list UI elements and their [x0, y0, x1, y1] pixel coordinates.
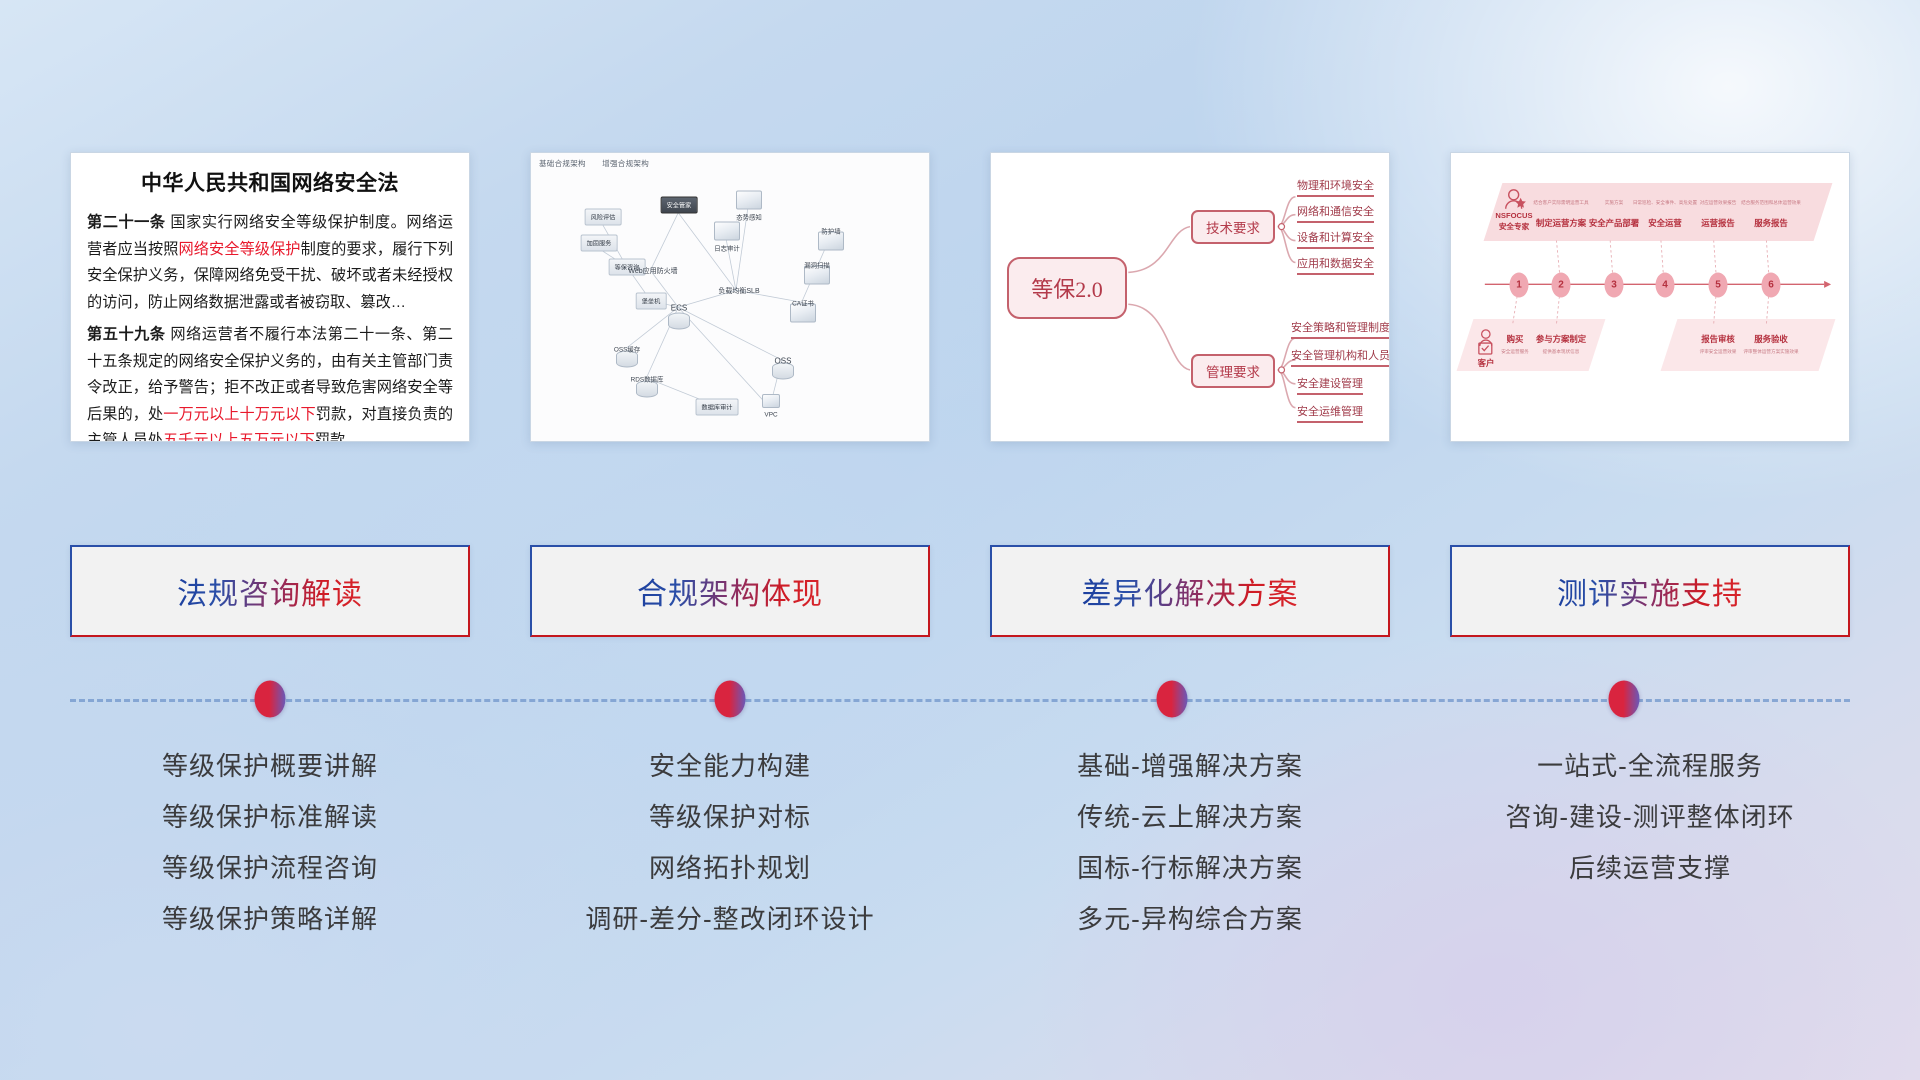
- law-title: 中华人民共和国网络安全法: [71, 167, 469, 197]
- nsfocus-top-sub: 对应运营效果报告: [1700, 200, 1737, 206]
- timeline-dashed-line: [70, 699, 1850, 702]
- arch-cyl-ecs: [668, 313, 690, 330]
- nsfocus-step-number: 3: [1605, 273, 1624, 298]
- law-text-highlight: 一万元以上十万元以下: [163, 406, 316, 423]
- arch-cube-situational-awareness: [736, 191, 762, 210]
- law-text-highlight: 网络安全等级保护: [179, 241, 301, 258]
- preview-cards-row: 中华人民共和国网络安全法 第二十一条 国家实行网络安全等级保护制度。网络运营者应…: [0, 152, 1920, 442]
- mindmap-leaf: 安全管理机构和人员: [1291, 347, 1390, 367]
- nsfocus-bottom-sub: 评审安全运营效果: [1700, 349, 1737, 355]
- detail-list-regulation-consulting: 等级保护概要讲解 等级保护标准解读 等级保护流程咨询 等级保护策略详解: [70, 745, 470, 940]
- nsfocus-bottom-main: 参与方案制定: [1536, 333, 1586, 345]
- nsfocus-top-main: 服务报告: [1754, 217, 1788, 229]
- heading-box-differentiated-solution[interactable]: 差异化解决方案: [990, 545, 1390, 637]
- arch-cube-log-audit: [714, 222, 740, 241]
- card-mindmap[interactable]: 等保2.0 技术要求 物理和环境安全 网络和通信安全 设备和计算安全 应用和数据…: [990, 152, 1390, 442]
- list-item: 多元-异构综合方案: [1077, 898, 1303, 940]
- timeline-dot-4[interactable]: [1609, 681, 1640, 718]
- heading-label: 测评实施支持: [1557, 569, 1743, 613]
- mindmap-root-node: 等保2.0: [1007, 257, 1127, 319]
- arch-node-bastion: 堡垒机: [636, 293, 667, 310]
- nsfocus-bottom-main: 服务验收: [1754, 333, 1788, 345]
- nsfocus-top-sub: 结合服务范围和总体运营效果: [1741, 200, 1801, 206]
- list-item: 等级保护概要讲解: [162, 745, 378, 787]
- detail-list-assessment-support: 一站式-全流程服务 咨询-建设-测评整体闭环 后续运营支撑: [1450, 745, 1850, 940]
- arch-node-waf: Web应用防火墙: [628, 266, 677, 276]
- timeline-dot-3[interactable]: [1157, 681, 1188, 718]
- arch-node-rds: RDS数据库: [631, 375, 664, 384]
- nsfocus-top-sub: 结合客户实际需明运营工具: [1533, 200, 1588, 206]
- nsfocus-top-main: 运营报告: [1701, 217, 1735, 229]
- mindmap-leaf: 安全策略和管理制度: [1291, 319, 1390, 339]
- nsfocus-top-sub: 日常巡检、安全事件、高危处置: [1633, 200, 1697, 206]
- list-item: 等级保护对标: [649, 796, 811, 838]
- nsfocus-bottom-main: 报告审核: [1701, 333, 1735, 345]
- mindmap-leaf: 安全建设管理: [1297, 375, 1363, 395]
- heading-box-assessment-support[interactable]: 测评实施支持: [1450, 545, 1850, 637]
- nsfocus-step-number: 5: [1709, 273, 1728, 298]
- heading-box-regulation-consulting[interactable]: 法规咨询解读: [70, 545, 470, 637]
- nsfocus-customer-label: 客户: [1478, 357, 1495, 369]
- law-paragraph: 第二十一条 国家实行网络安全等级保护制度。网络运营者应当按照网络安全等级保护制度…: [87, 210, 453, 316]
- card-architecture-diagram[interactable]: 基础合规架构 增强合规架构 安全管家 风险评估 加固服务 等保咨询 堡垒机 态势…: [530, 152, 930, 442]
- nsfocus-top-main: 安全运营: [1648, 217, 1682, 229]
- nsfocus-expert-name: NSFOCUS: [1495, 211, 1532, 220]
- nsfocus-bottom-main: 购买: [1507, 333, 1524, 345]
- list-item: 后续运营支撑: [1569, 847, 1731, 889]
- nsfocus-top-main: 安全产品部署: [1589, 217, 1639, 229]
- arch-node-security-butler: 安全管家: [661, 197, 698, 214]
- arch-node-ca: CA证书: [792, 299, 814, 308]
- heading-label: 合规架构体现: [637, 569, 823, 613]
- heading-box-compliance-architecture[interactable]: 合规架构体现: [530, 545, 930, 637]
- timeline-dot-2[interactable]: [715, 681, 746, 718]
- list-item: 调研-差分-整改闭环设计: [585, 898, 874, 940]
- law-article-number: 第二十一条: [87, 214, 166, 231]
- law-paragraph: 第五十九条 网络运营者不履行本法第二十一条、第二十五条规定的网络安全保护义务的，…: [87, 322, 453, 442]
- list-item: 等级保护标准解读: [162, 796, 378, 838]
- heading-label: 差异化解决方案: [1082, 569, 1299, 613]
- nsfocus-top-main: 制定运营方案: [1536, 217, 1586, 229]
- nsfocus-top-sub: 实施方案: [1605, 200, 1623, 206]
- nsfocus-canvas: NSFOCUS 安全专家 客户 结合客户实际需明运营工具 制定运营方案 实施方案…: [1451, 153, 1849, 441]
- nsfocus-step-number: 2: [1552, 273, 1571, 298]
- detail-lists-row: 等级保护概要讲解 等级保护标准解读 等级保护流程咨询 等级保护策略详解 安全能力…: [0, 745, 1920, 940]
- mindmap-canvas: 等保2.0 技术要求 物理和环境安全 网络和通信安全 设备和计算安全 应用和数据…: [991, 153, 1389, 441]
- list-item: 一站式-全流程服务: [1537, 745, 1763, 787]
- nsfocus-arrow-and-leaders: [1451, 153, 1849, 442]
- list-item: 安全能力构建: [649, 745, 811, 787]
- arch-node-hardening: 加固服务: [581, 235, 618, 252]
- nsfocus-expert-role: 安全专家: [1499, 221, 1529, 232]
- arch-node-firewall: 防护墙: [821, 227, 840, 236]
- list-item: 基础-增强解决方案: [1077, 745, 1303, 787]
- nsfocus-step-number: 1: [1510, 273, 1529, 298]
- mindmap-leaf: 应用和数据安全: [1297, 255, 1374, 275]
- arch-node-slb: 负载均衡SLB: [718, 286, 759, 296]
- section-headings-row: 法规咨询解读 合规架构体现 差异化解决方案 测评实施支持: [0, 545, 1920, 637]
- card-nsfocus-timeline[interactable]: NSFOCUS 安全专家 客户 结合客户实际需明运营工具 制定运营方案 实施方案…: [1450, 152, 1850, 442]
- law-article-number: 第五十九条: [87, 326, 166, 343]
- list-item: 咨询-建设-测评整体闭环: [1505, 796, 1794, 838]
- nsfocus-bottom-sub: 提供基本现状信息: [1543, 349, 1580, 355]
- arch-node-vpc: VPC: [764, 412, 777, 419]
- detail-list-compliance-architecture: 安全能力构建 等级保护对标 网络拓扑规划 调研-差分-整改闭环设计: [530, 745, 930, 940]
- detail-list-differentiated-solution: 基础-增强解决方案 传统-云上解决方案 国标-行标解决方案 多元-异构综合方案: [990, 745, 1390, 940]
- mindmap-leaf: 设备和计算安全: [1297, 229, 1374, 249]
- arch-node-risk-assessment: 风险评估: [585, 209, 622, 226]
- heading-label: 法规咨询解读: [177, 569, 363, 613]
- nsfocus-bottom-sub: 评审整体运营方案实施效果: [1743, 349, 1798, 355]
- card-law-text[interactable]: 中华人民共和国网络安全法 第二十一条 国家实行网络安全等级保护制度。网络运营者应…: [70, 152, 470, 442]
- nsfocus-bottom-sub: 安全运营服务: [1501, 349, 1529, 355]
- list-item: 网络拓扑规划: [649, 847, 811, 889]
- list-item: 等级保护流程咨询: [162, 847, 378, 889]
- mindmap-leaf: 安全运维管理: [1297, 403, 1363, 423]
- timeline-dot-1[interactable]: [255, 681, 286, 718]
- slide-canvas: 中华人民共和国网络安全法 第二十一条 国家实行网络安全等级保护制度。网络运营者应…: [0, 0, 1920, 1080]
- nsfocus-step-number: 4: [1656, 273, 1675, 298]
- arch-node-db-audit: 数据库审计: [696, 399, 739, 416]
- nsfocus-step-number: 6: [1762, 273, 1781, 298]
- arch-node-situational-awareness: 态势感知: [736, 213, 762, 222]
- arch-cube-vpc: [762, 394, 780, 408]
- law-body: 第二十一条 国家实行网络安全等级保护制度。网络运营者应当按照网络安全等级保护制度…: [87, 210, 453, 442]
- law-text-highlight: 五千元以上五万元以下: [163, 432, 315, 442]
- arch-node-oss: OSS: [775, 357, 792, 366]
- mindmap-branch-management: 管理要求: [1191, 354, 1275, 388]
- arch-node-log-audit: 日志审计: [714, 244, 740, 253]
- mindmap-leaf: 网络和通信安全: [1297, 203, 1374, 223]
- law-text-seg: 罚款。: [315, 432, 361, 442]
- list-item: 等级保护策略详解: [162, 898, 378, 940]
- arch-node-vuln-scan: 漏洞扫描: [804, 261, 830, 270]
- mindmap-branch-technical: 技术要求: [1191, 210, 1275, 244]
- arch-node-ecs: ECS: [671, 304, 687, 313]
- arch-node-oss-cache: OSS缓存: [614, 345, 640, 354]
- architecture-canvas: 基础合规架构 增强合规架构 安全管家 风险评估 加固服务 等保咨询 堡垒机 态势…: [531, 153, 929, 441]
- mindmap-leaf: 物理和环境安全: [1297, 177, 1374, 197]
- list-item: 传统-云上解决方案: [1077, 796, 1303, 838]
- list-item: 国标-行标解决方案: [1077, 847, 1303, 889]
